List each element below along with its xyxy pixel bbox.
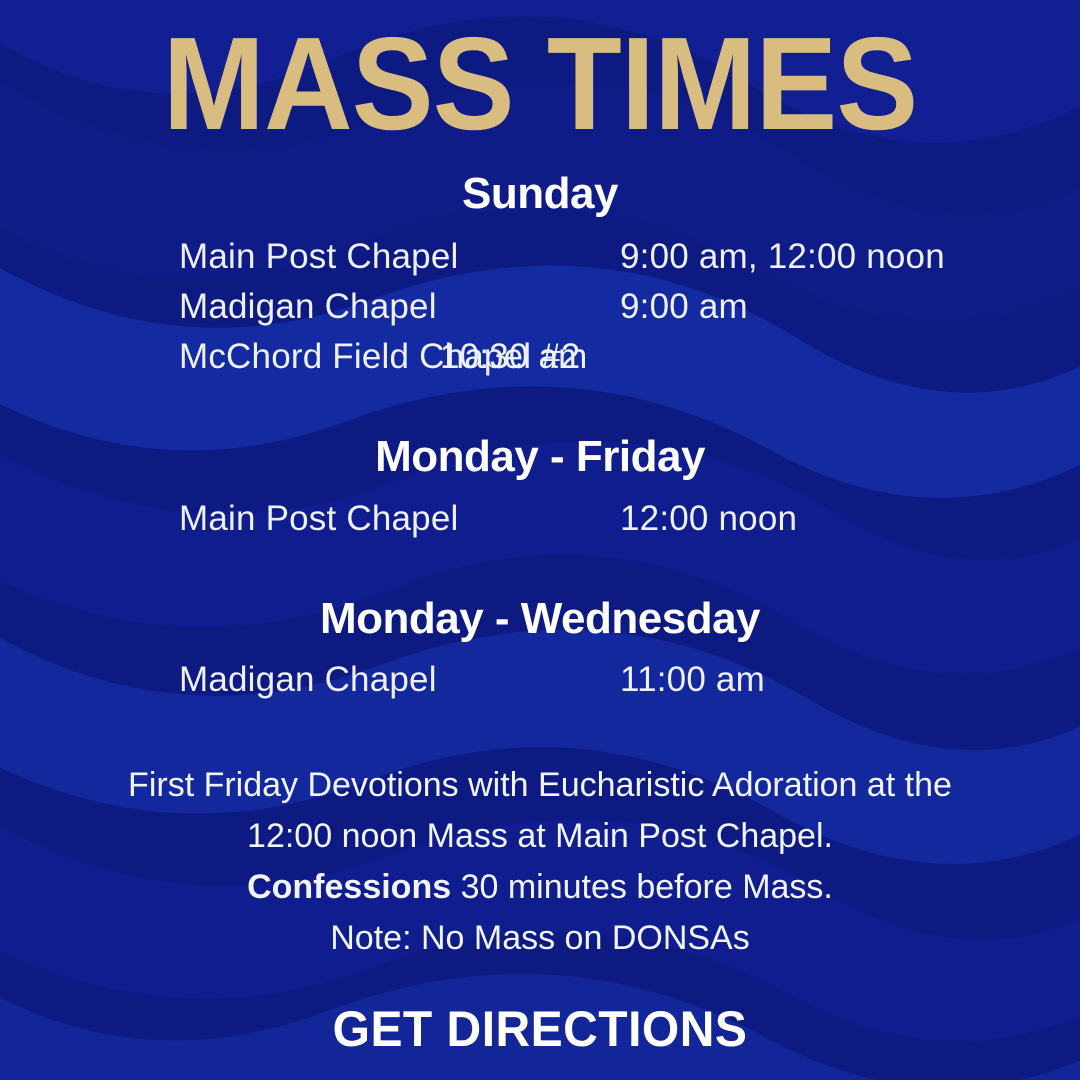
schedule-row: McChord Field Chapel #2 10:30 am [0,332,1080,382]
note-line-3: Confessions 30 minutes before Mass. [0,862,1080,913]
notes-block: First Friday Devotions with Eucharistic … [0,760,1080,964]
get-directions-button[interactable]: GET DIRECTIONS [22,1000,1059,1058]
schedule-place: Madigan Chapel [0,655,620,705]
section-heading-sunday: Sunday [0,169,1080,219]
mass-times-poster: MASS TIMES Sunday Main Post Chapel 9:00 … [0,0,1080,1080]
schedule-time: 9:00 am, 12:00 noon [620,232,945,282]
section-heading-monday-wednesday: Monday - Wednesday [0,594,1080,644]
schedule-time: 10:30 am [440,332,588,382]
note-line-4: Note: No Mass on DONSAs [0,913,1080,964]
schedule-time: 9:00 am [620,282,748,332]
schedule-time: 11:00 am [620,655,765,705]
schedule-place: McChord Field Chapel #2 [0,332,440,382]
schedule-sunday: Main Post Chapel 9:00 am, 12:00 noon Mad… [0,232,1080,382]
schedule-row: Madigan Chapel 11:00 am [0,655,1080,705]
schedule-row: Main Post Chapel 12:00 noon [0,494,1080,544]
schedule-place: Madigan Chapel [0,282,620,332]
schedule-time: 12:00 noon [620,494,797,544]
note-line-1: First Friday Devotions with Eucharistic … [0,760,1080,811]
page-title: MASS TIMES [38,18,1042,150]
schedule-row: Main Post Chapel 9:00 am, 12:00 noon [0,232,1080,282]
schedule-monday-friday: Main Post Chapel 12:00 noon [0,494,1080,544]
note-confessions-label: Confessions [247,868,451,906]
schedule-row: Madigan Chapel 9:00 am [0,282,1080,332]
section-heading-monday-friday: Monday - Friday [0,432,1080,482]
schedule-monday-wednesday: Madigan Chapel 11:00 am [0,655,1080,705]
note-line-2: 12:00 noon Mass at Main Post Chapel. [0,811,1080,862]
schedule-place: Main Post Chapel [0,232,620,282]
note-confessions-detail: 30 minutes before Mass. [451,868,833,906]
schedule-place: Main Post Chapel [0,494,620,544]
